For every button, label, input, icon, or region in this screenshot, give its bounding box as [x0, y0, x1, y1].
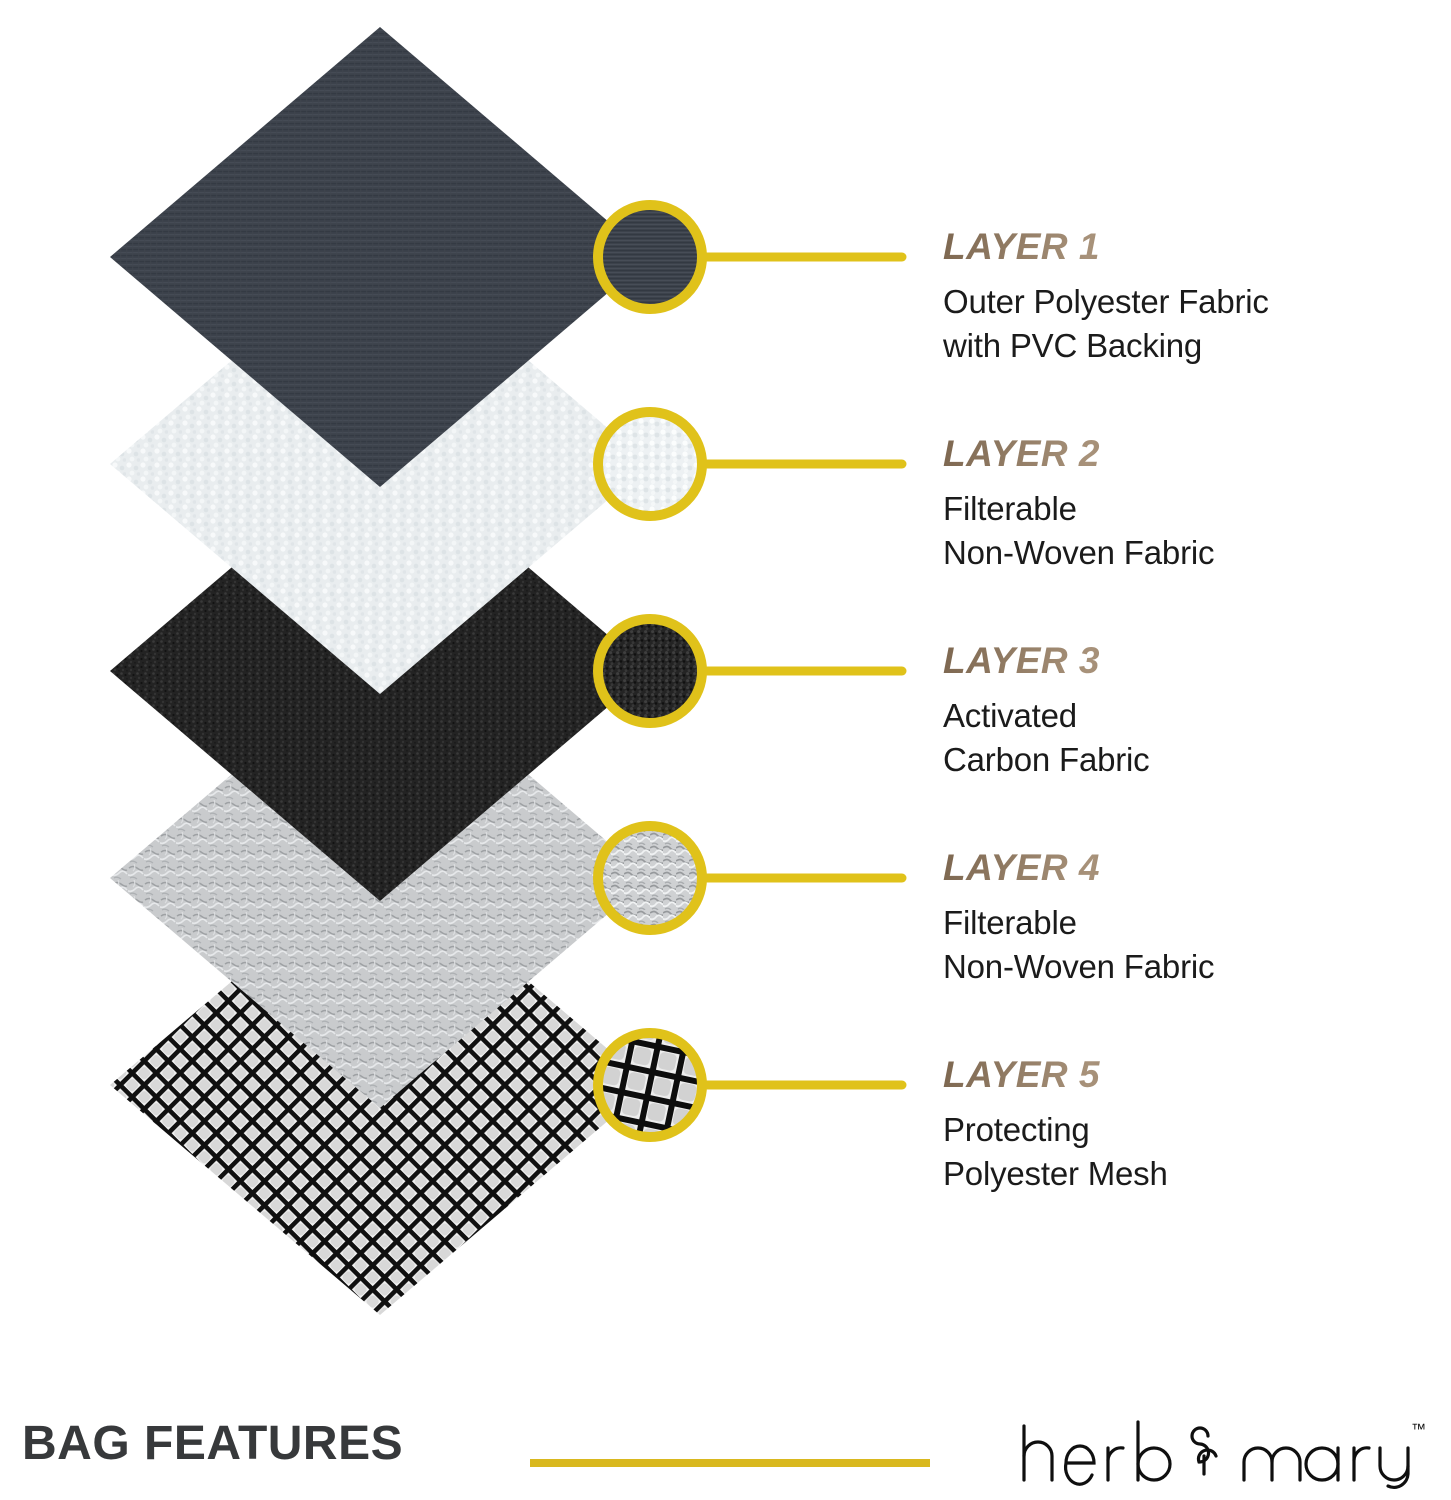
layer-title-1: LAYER 1: [943, 228, 1363, 267]
layer-title-5: LAYER 5: [943, 1056, 1363, 1095]
callout-text-4: LAYER 4 Filterable Non-Woven Fabric: [943, 849, 1363, 989]
layer-description-3: Activated Carbon Fabric: [943, 694, 1363, 782]
callout-circle-4[interactable]: [590, 818, 710, 938]
callout-text-5: LAYER 5 Protecting Polyester Mesh: [943, 1056, 1363, 1196]
trademark-symbol: ™: [1411, 1422, 1426, 1437]
infographic-root: LAYER 1 Outer Polyester Fabric with PVC …: [0, 0, 1451, 1500]
footer-divider-rule: [530, 1459, 930, 1467]
layer-diagram: LAYER 1 Outer Polyester Fabric with PVC …: [0, 0, 1451, 1390]
footer-bar: BAG FEATURES: [0, 1390, 1451, 1500]
layer-description-5: Protecting Polyester Mesh: [943, 1108, 1363, 1196]
callout-text-2: LAYER 2 Filterable Non-Woven Fabric: [943, 435, 1363, 575]
callout-circle-2[interactable]: [590, 404, 710, 524]
layer-description-2: Filterable Non-Woven Fabric: [943, 487, 1363, 575]
leader-lines: [700, 257, 902, 1085]
callout-text-1: LAYER 1 Outer Polyester Fabric with PVC …: [943, 228, 1363, 368]
footer-heading: BAG FEATURES: [22, 1420, 403, 1468]
brand-logo-herb-and-mary: [1012, 1412, 1432, 1492]
layer-title-2: LAYER 2: [943, 435, 1363, 474]
callout-text-3: LAYER 3 Activated Carbon Fabric: [943, 642, 1363, 782]
layer-title-3: LAYER 3: [943, 642, 1363, 681]
callout-circle-3[interactable]: [590, 611, 710, 731]
layer-description-4: Filterable Non-Woven Fabric: [943, 901, 1363, 989]
callout-circle-1[interactable]: [590, 197, 710, 317]
layer-title-4: LAYER 4: [943, 849, 1363, 888]
layer-description-1: Outer Polyester Fabric with PVC Backing: [943, 280, 1363, 368]
callout-circle-5[interactable]: [590, 1025, 710, 1145]
